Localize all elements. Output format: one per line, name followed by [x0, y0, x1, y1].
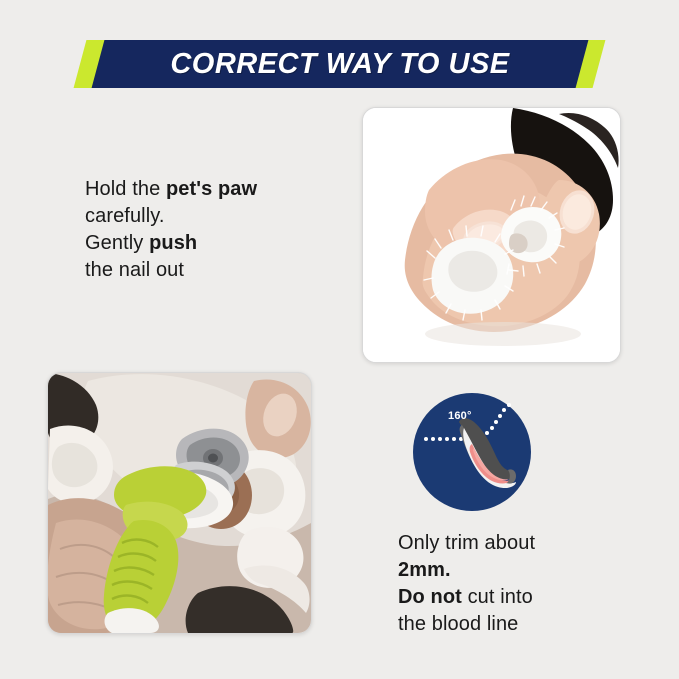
instruction-hold-paw: Hold the pet's pawcarefully.Gently pusht… [85, 176, 355, 284]
page-title: CORRECT WAY TO USE [98, 40, 582, 88]
instruction-line: the nail out [85, 257, 355, 284]
infographic-page: CORRECT WAY TO USE Hold the pet's pawcar… [0, 0, 679, 679]
angle-badge: 160° [412, 392, 532, 512]
photo-clipping-nail-image [48, 373, 311, 633]
instruction-trim-amount: Only trim about2mm.Do not cut intothe bl… [398, 530, 658, 638]
instruction-line: Do not cut into [398, 584, 658, 611]
instruction-line: 2mm. [398, 557, 658, 584]
header-banner: CORRECT WAY TO USE [0, 40, 679, 88]
photo-hold-paw [362, 107, 621, 363]
instruction-line: carefully. [85, 203, 355, 230]
photo-clipping-nail [47, 372, 312, 634]
angle-badge-graphic [412, 392, 532, 512]
instruction-line: Hold the pet's paw [85, 176, 355, 203]
photo-hold-paw-image [363, 108, 620, 362]
instruction-line: the blood line [398, 611, 658, 638]
instruction-line: Gently push [85, 230, 355, 257]
instruction-line: Only trim about [398, 530, 658, 557]
